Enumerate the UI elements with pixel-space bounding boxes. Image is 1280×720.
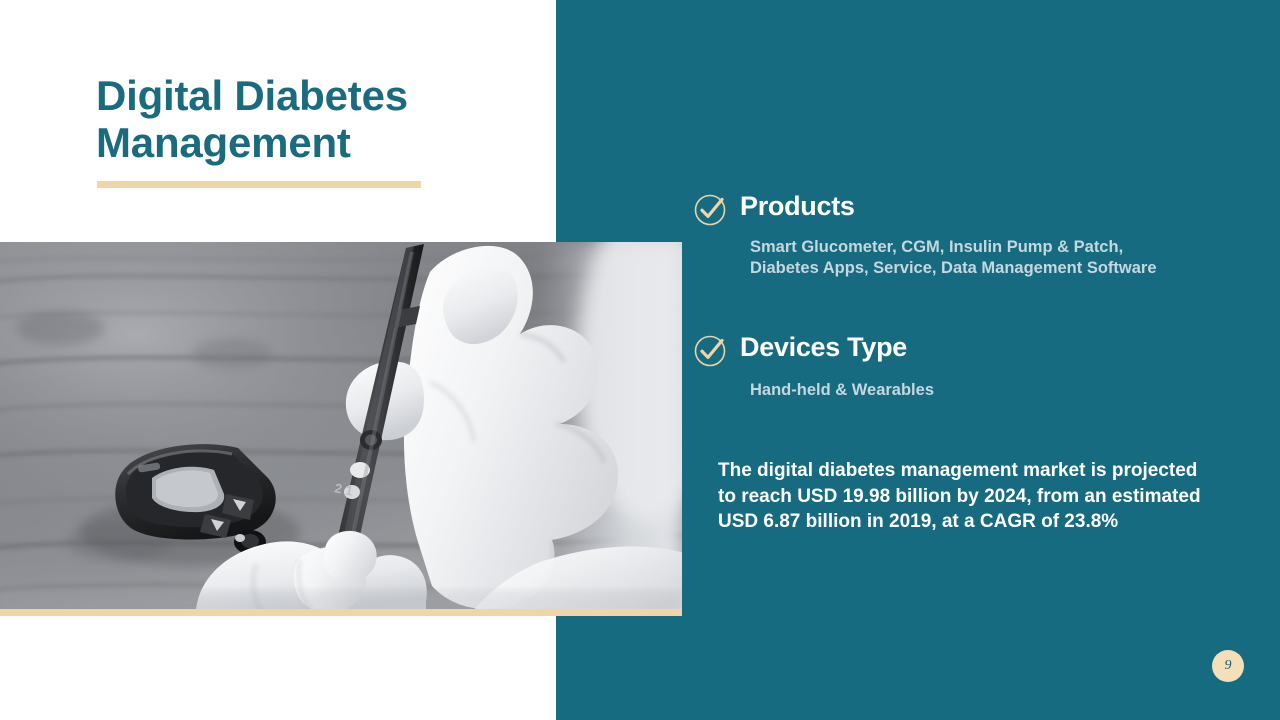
title-block: Digital Diabetes Management bbox=[96, 72, 526, 166]
feature-products: Products Smart Glucometer, CGM, Insulin … bbox=[692, 190, 1212, 279]
feature-devices-type-title: Devices Type bbox=[740, 331, 907, 363]
feature-devices-type-body: Hand-held & Wearables bbox=[750, 380, 1175, 401]
check-circle-icon bbox=[692, 333, 728, 369]
page-title: Digital Diabetes Management bbox=[96, 72, 526, 166]
check-circle-icon bbox=[692, 192, 728, 228]
photo-accent-stripe bbox=[0, 609, 682, 616]
feature-products-title: Products bbox=[740, 190, 855, 222]
market-statement: The digital diabetes management market i… bbox=[718, 458, 1218, 535]
feature-devices-type: Devices Type Hand-held & Wearables bbox=[692, 331, 1212, 401]
page-number-value: 9 bbox=[1225, 658, 1232, 674]
photo-illustration: 2 1 bbox=[0, 242, 682, 615]
feature-products-body: Smart Glucometer, CGM, Insulin Pump & Pa… bbox=[750, 237, 1175, 279]
page-number-badge: 9 bbox=[1212, 650, 1244, 682]
slide-canvas: Digital Diabetes Management bbox=[0, 0, 1280, 720]
feature-devices-type-header: Devices Type bbox=[692, 331, 1212, 369]
diabetes-testing-photo: 2 1 bbox=[0, 242, 682, 615]
title-accent-rule bbox=[97, 181, 421, 188]
feature-products-header: Products bbox=[692, 190, 1212, 228]
